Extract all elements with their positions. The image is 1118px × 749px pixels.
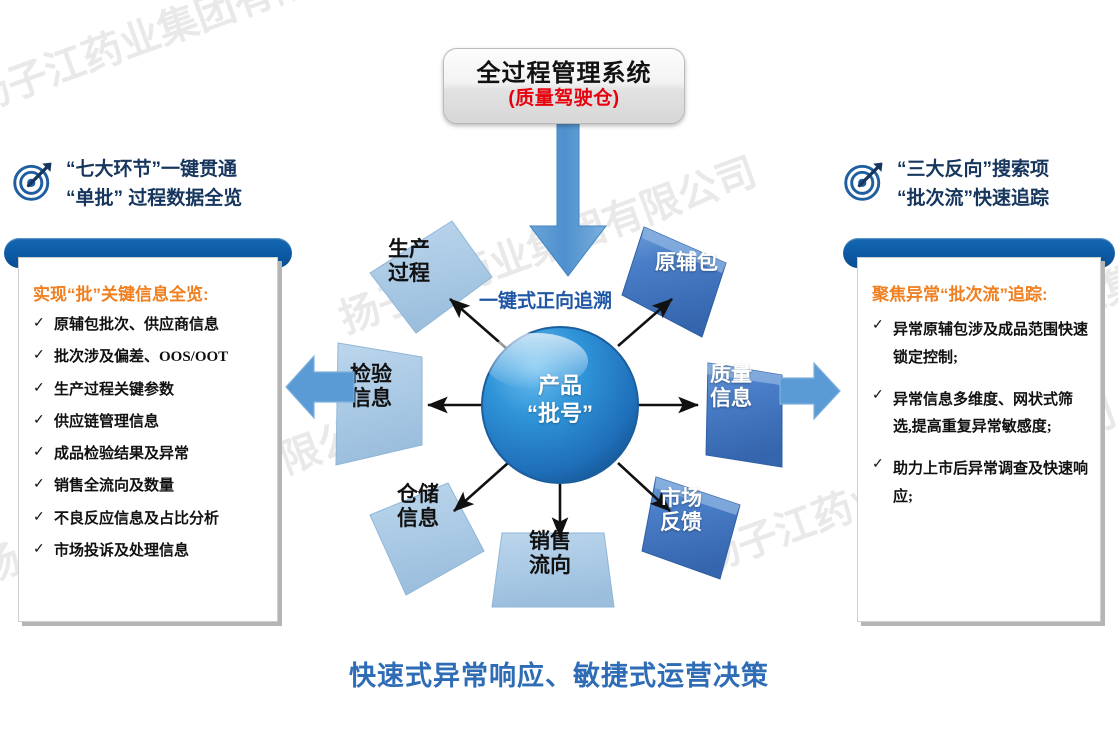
list-item-label: 异常原辅包涉及成品范围快速锁定控制;	[893, 317, 1090, 373]
left-header-line2: “单批” 过程数据全览	[66, 184, 242, 213]
wheel-segment-sales-flow[interactable]	[492, 533, 614, 607]
left-header: “七大环节”一键贯通 “单批” 过程数据全览	[12, 155, 242, 214]
check-icon: ✓	[33, 541, 45, 558]
system-title-box: 全过程管理系统 (质量驾驶仓)	[443, 48, 685, 124]
left-header-text: “七大环节”一键贯通 “单批” 过程数据全览	[66, 155, 242, 214]
list-item-label: 生产过程关键参数	[54, 380, 174, 400]
forward-trace-label: 一键式正向追溯	[479, 286, 612, 313]
wheel-segment-quality-info[interactable]	[706, 363, 782, 467]
diagram-canvas: 扬子江药业集团有限公司 扬子江药业集团有限公司 扬子江药业集团有限公司 扬子江药…	[0, 0, 1118, 749]
check-icon: ✓	[33, 380, 45, 397]
panel-body: 聚焦异常“批次流”追踪: ✓异常原辅包涉及成品范围快速锁定控制; ✓异常信息多维…	[857, 257, 1101, 622]
list-item-label: 助力上市后异常调查及快速响应;	[893, 456, 1090, 512]
target-arrow-icon	[843, 159, 887, 203]
left-panel-title: 实现“批”关键信息全览:	[33, 280, 267, 305]
check-icon: ✓	[33, 412, 45, 429]
wheel-segment-raw-material[interactable]	[622, 227, 726, 337]
list-item-label: 原辅包批次、供应商信息	[54, 315, 219, 335]
list-item[interactable]: ✓生产过程关键参数	[33, 380, 267, 400]
list-item[interactable]: ✓助力上市后异常调查及快速响应;	[872, 456, 1090, 512]
list-item-label: 市场投诉及处理信息	[54, 541, 189, 561]
left-info-panel: 实现“批”关键信息全览: ✓原辅包批次、供应商信息 ✓批次涉及偏差、OOS/OO…	[4, 238, 292, 636]
wheel-hub[interactable]	[482, 327, 638, 483]
list-item[interactable]: ✓销售全流向及数量	[33, 476, 267, 496]
list-item[interactable]: ✓原辅包批次、供应商信息	[33, 315, 267, 335]
check-icon: ✓	[33, 509, 45, 526]
check-icon: ✓	[33, 444, 45, 461]
list-item-label: 批次涉及偏差、OOS/OOT	[54, 347, 228, 367]
page-title: 全过程管理系统	[477, 61, 652, 86]
check-icon: ✓	[872, 387, 884, 404]
list-item[interactable]: ✓供应链管理信息	[33, 412, 267, 432]
right-header-line2: “批次流”快速追踪	[897, 184, 1049, 213]
left-arrow-icon	[284, 352, 356, 422]
page-subtitle: (质量驾驶仓)	[508, 88, 619, 111]
check-icon: ✓	[33, 315, 45, 332]
right-arrow-icon	[778, 360, 842, 422]
right-info-panel: 聚焦异常“批次流”追踪: ✓异常原辅包涉及成品范围快速锁定控制; ✓异常信息多维…	[843, 238, 1115, 636]
right-header-text: “三大反向”搜索项 “批次流”快速追踪	[897, 155, 1049, 214]
check-icon: ✓	[33, 347, 45, 364]
right-header-line1: “三大反向”搜索项	[897, 155, 1049, 184]
list-item[interactable]: ✓批次涉及偏差、OOS/OOT	[33, 347, 267, 367]
watermark: 扬子江药业集团有限公司	[0, 0, 393, 125]
list-item-label: 异常信息多维度、网状式筛选,提高重复异常敏感度;	[893, 387, 1090, 443]
list-item[interactable]: ✓不良反应信息及占比分析	[33, 509, 267, 529]
list-item-label: 销售全流向及数量	[54, 476, 174, 496]
right-panel-list: ✓异常原辅包涉及成品范围快速锁定控制; ✓异常信息多维度、网状式筛选,提高重复异…	[872, 317, 1090, 512]
list-item-label: 成品检验结果及异常	[54, 444, 189, 464]
list-item-label: 供应链管理信息	[54, 412, 159, 432]
wheel-segment-market-feedback[interactable]	[642, 477, 740, 579]
check-icon: ✓	[872, 317, 884, 334]
target-arrow-icon	[12, 159, 56, 203]
list-item[interactable]: ✓成品检验结果及异常	[33, 444, 267, 464]
wheel-segment-production-process[interactable]	[370, 221, 492, 333]
footer-caption: 快速式异常响应、敏捷式运营决策	[0, 654, 1118, 693]
right-panel-title: 聚焦异常“批次流”追踪:	[872, 280, 1090, 305]
list-item[interactable]: ✓市场投诉及处理信息	[33, 541, 267, 561]
check-icon: ✓	[872, 456, 884, 473]
list-item[interactable]: ✓异常原辅包涉及成品范围快速锁定控制;	[872, 317, 1090, 373]
right-header: “三大反向”搜索项 “批次流”快速追踪	[843, 155, 1049, 214]
panel-body: 实现“批”关键信息全览: ✓原辅包批次、供应商信息 ✓批次涉及偏差、OOS/OO…	[18, 257, 278, 622]
list-item-label: 不良反应信息及占比分析	[54, 509, 219, 529]
list-item[interactable]: ✓异常信息多维度、网状式筛选,提高重复异常敏感度;	[872, 387, 1090, 443]
down-arrow-icon	[503, 118, 633, 283]
check-icon: ✓	[33, 476, 45, 493]
left-panel-list: ✓原辅包批次、供应商信息 ✓批次涉及偏差、OOS/OOT ✓生产过程关键参数 ✓…	[33, 315, 267, 561]
left-header-line1: “七大环节”一键贯通	[66, 155, 242, 184]
